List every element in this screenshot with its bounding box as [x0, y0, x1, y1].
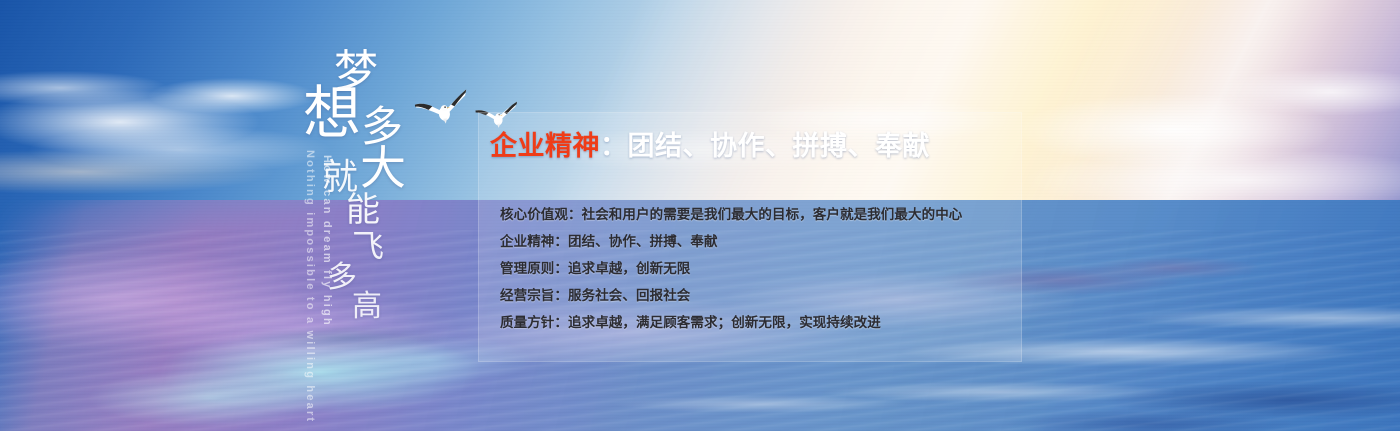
slogan-english-line-1: How can dream fly high	[321, 155, 333, 327]
slogan-char-6: 能	[346, 194, 380, 228]
slogan-char-7: 飞	[352, 230, 384, 262]
slogan-char-2: 想	[303, 85, 361, 143]
slogan-char-5: 就	[322, 159, 358, 195]
slogan-char-9: 高	[352, 292, 382, 322]
body-line-core-values: 核心价值观：社会和用户的需要是我们最大的目标，客户就是我们最大的中心	[500, 201, 1000, 228]
headline-rest-text: ：团结、协作、拼搏、奉献	[600, 131, 930, 161]
slogan-char-8: 多	[327, 263, 357, 293]
company-spirit-banner: 梦 想 多 大 就 能 飞 多 高 How can dream fly high…	[0, 0, 1400, 431]
dream-slogan-group: 梦 想 多 大 就 能 飞 多 高 How can dream fly high…	[0, 0, 470, 431]
body-line-quality-policy: 质量方针：追求卓越，满足顾客需求；创新无限，实现持续改进	[500, 309, 1000, 336]
panel-body-list: 核心价值观：社会和用户的需要是我们最大的目标，客户就是我们最大的中心 企业精神：…	[500, 201, 1000, 336]
slogan-char-1: 梦	[334, 50, 378, 94]
headline-accent-text: 企业精神	[490, 131, 600, 161]
panel-headline: 企业精神：团结、协作、拼搏、奉献	[490, 130, 930, 164]
body-line-business-purpose: 经营宗旨：服务社会、回报社会	[500, 282, 1000, 309]
body-line-company-spirit: 企业精神：团结、协作、拼搏、奉献	[500, 228, 1000, 255]
slogan-english-line-2: Nothing impossible to a willing heart	[304, 150, 316, 423]
seagull-large-icon	[414, 88, 470, 134]
slogan-char-3: 多	[361, 107, 403, 149]
body-line-management-principle: 管理原则：追求卓越，创新无限	[500, 255, 1000, 282]
slogan-char-4: 大	[360, 146, 406, 192]
